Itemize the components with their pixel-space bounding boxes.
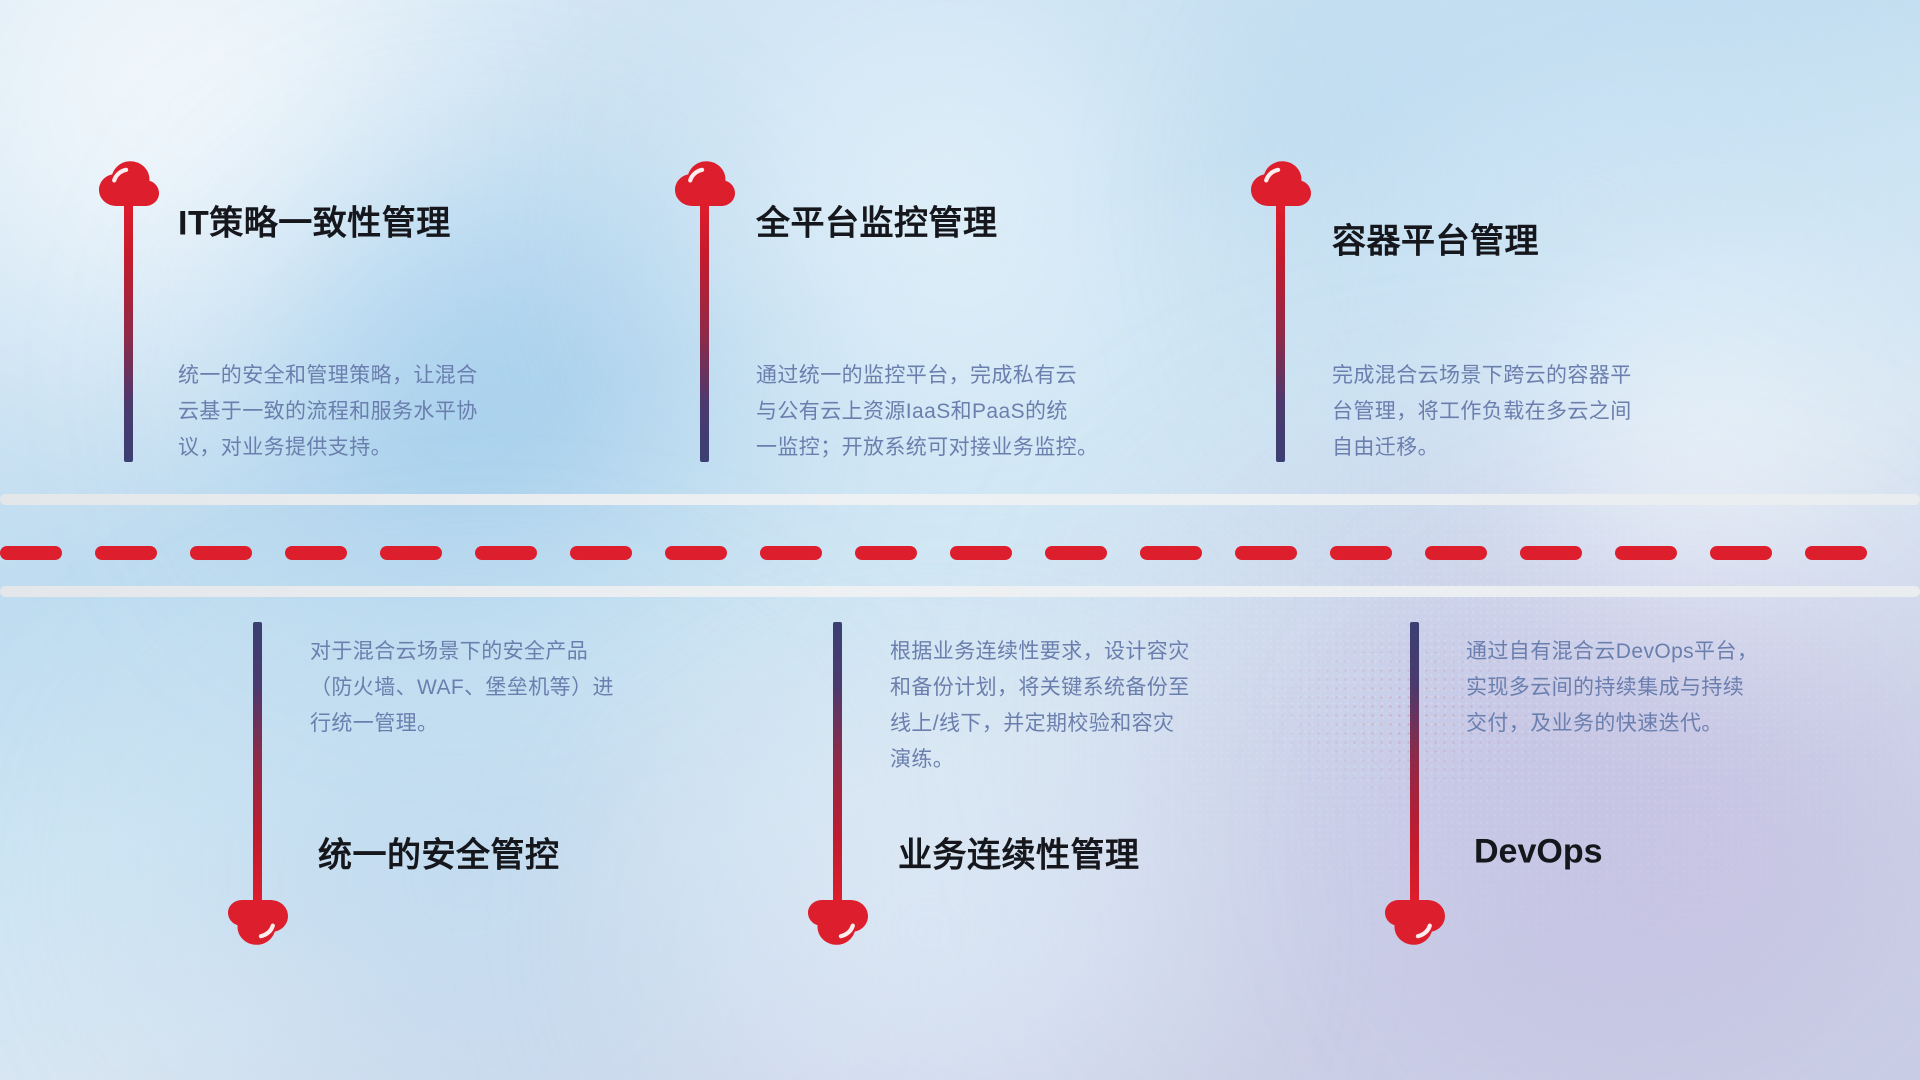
item-title: 业务连续性管理 (898, 828, 1140, 877)
road-dash-segment (0, 546, 62, 560)
connector-stem (253, 622, 262, 904)
item-title: 全平台监控管理 (756, 196, 998, 245)
item-title: IT策略一致性管理 (178, 196, 451, 245)
road-dash-segment (1140, 546, 1202, 560)
item-description: 根据业务连续性要求，设计容灾 和备份计划，将关键系统备份至 线上/线下，并定期校… (890, 634, 1320, 778)
road-dash-segment (570, 546, 632, 560)
item-description: 通过自有混合云DevOps平台， 实现多云间的持续集成与持续 交付，及业务的快速… (1466, 634, 1896, 742)
connector-stem (700, 200, 709, 462)
connector-stem (1276, 200, 1285, 462)
item-description: 通过统一的监控平台，完成私有云 与公有云上资源IaaS和PaaS的统 一监控；开… (756, 358, 1206, 466)
infographic-canvas: IT策略一致性管理 统一的安全和管理策略，让混合 云基于一致的流程和服务水平协 … (0, 0, 1920, 1080)
road-dash-segment (1330, 546, 1392, 560)
item-description: 完成混合云场景下跨云的容器平 台管理，将工作负载在多云之间 自由迁移。 (1332, 358, 1772, 466)
connector-stem (1410, 622, 1419, 904)
road-dash-segment (1805, 546, 1867, 560)
item-title: 统一的安全管控 (318, 828, 560, 877)
cloud-icon (805, 898, 871, 946)
road-dash-segment (1710, 546, 1772, 560)
item-description: 统一的安全和管理策略，让混合 云基于一致的流程和服务水平协 议，对业务提供支持。 (178, 358, 618, 466)
road-dash-segment (1520, 546, 1582, 560)
road-edge-line-top (0, 494, 1920, 505)
road-dash-segment (475, 546, 537, 560)
road-edge-line-bottom (0, 586, 1920, 597)
road-dash-segment (760, 546, 822, 560)
item-title: DevOps (1474, 833, 1603, 872)
road-dash-segment (1045, 546, 1107, 560)
road-dash-segment (1615, 546, 1677, 560)
item-description: 对于混合云场景下的安全产品 （防火墙、WAF、堡垒机等）进 行统一管理。 (310, 634, 740, 742)
road-dash-segment (285, 546, 347, 560)
road-dash-segment (95, 546, 157, 560)
road-dash-segment (1235, 546, 1297, 560)
road-dash-segment (190, 546, 252, 560)
road-dash-segment (380, 546, 442, 560)
item-title: 容器平台管理 (1332, 214, 1539, 263)
cloud-icon (1382, 898, 1448, 946)
road-dash-segment (950, 546, 1012, 560)
cloud-icon (225, 898, 291, 946)
road-dash-segment (665, 546, 727, 560)
connector-stem (833, 622, 842, 904)
connector-stem (124, 200, 133, 462)
road-dash-segment (1425, 546, 1487, 560)
road-center-dashes (0, 546, 1920, 560)
road-dash-segment (855, 546, 917, 560)
